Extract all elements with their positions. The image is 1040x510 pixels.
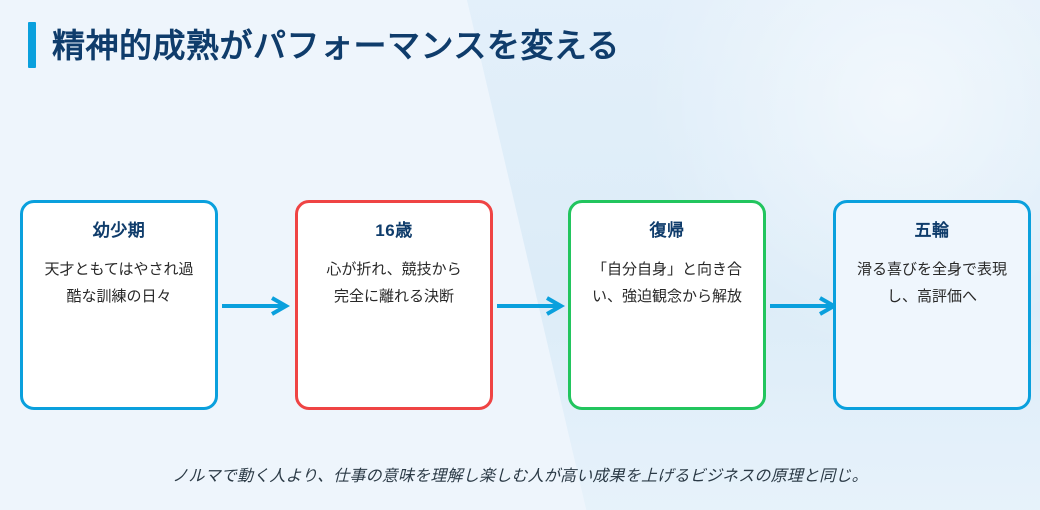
flow-card-olympics[interactable]: 五輪 滑る喜びを全身で表現し、高評価へ — [833, 200, 1031, 410]
flow-card-age-16[interactable]: 16歳 心が折れ、競技から完全に離れる決断 — [295, 200, 493, 410]
page-title: 精神的成熟がパフォーマンスを変える — [52, 29, 620, 62]
arrow-right-icon — [222, 296, 290, 316]
flow-card-body: 心が折れ、競技から完全に離れる決断 — [319, 257, 469, 310]
flow-card-title: 復帰 — [650, 221, 685, 241]
vertical-accent-bar-icon — [28, 22, 36, 68]
arrow-right-icon — [497, 296, 565, 316]
flow-card-title: 幼少期 — [93, 221, 146, 241]
flow-card-body: 「自分自身」と向き合い、強迫観念から解放 — [592, 257, 742, 310]
slide-header: 精神的成熟がパフォーマンスを変える — [28, 22, 620, 68]
flow-arrow-2 — [497, 296, 565, 316]
process-flow: 幼少期 天才ともてはやされ過酷な訓練の日々 16歳 心が折れ、競技から完全に離れ… — [0, 200, 1040, 412]
footer-note: ノルマで動く人より、仕事の意味を理解し楽しむ人が高い成果を上げるビジネスの原理と… — [0, 462, 1040, 486]
arrow-right-icon — [770, 296, 838, 316]
flow-arrow-1 — [222, 296, 290, 316]
flow-card-body: 天才ともてはやされ過酷な訓練の日々 — [44, 257, 194, 310]
slide-canvas: 精神的成熟がパフォーマンスを変える 幼少期 天才ともてはやされ過酷な訓練の日々 … — [0, 0, 1040, 510]
flow-arrow-3 — [770, 296, 838, 316]
flow-card-comeback[interactable]: 復帰 「自分自身」と向き合い、強迫観念から解放 — [568, 200, 766, 410]
flow-card-title: 五輪 — [915, 221, 950, 241]
flow-card-childhood[interactable]: 幼少期 天才ともてはやされ過酷な訓練の日々 — [20, 200, 218, 410]
flow-card-title: 16歳 — [375, 221, 412, 241]
flow-card-body: 滑る喜びを全身で表現し、高評価へ — [857, 257, 1007, 310]
